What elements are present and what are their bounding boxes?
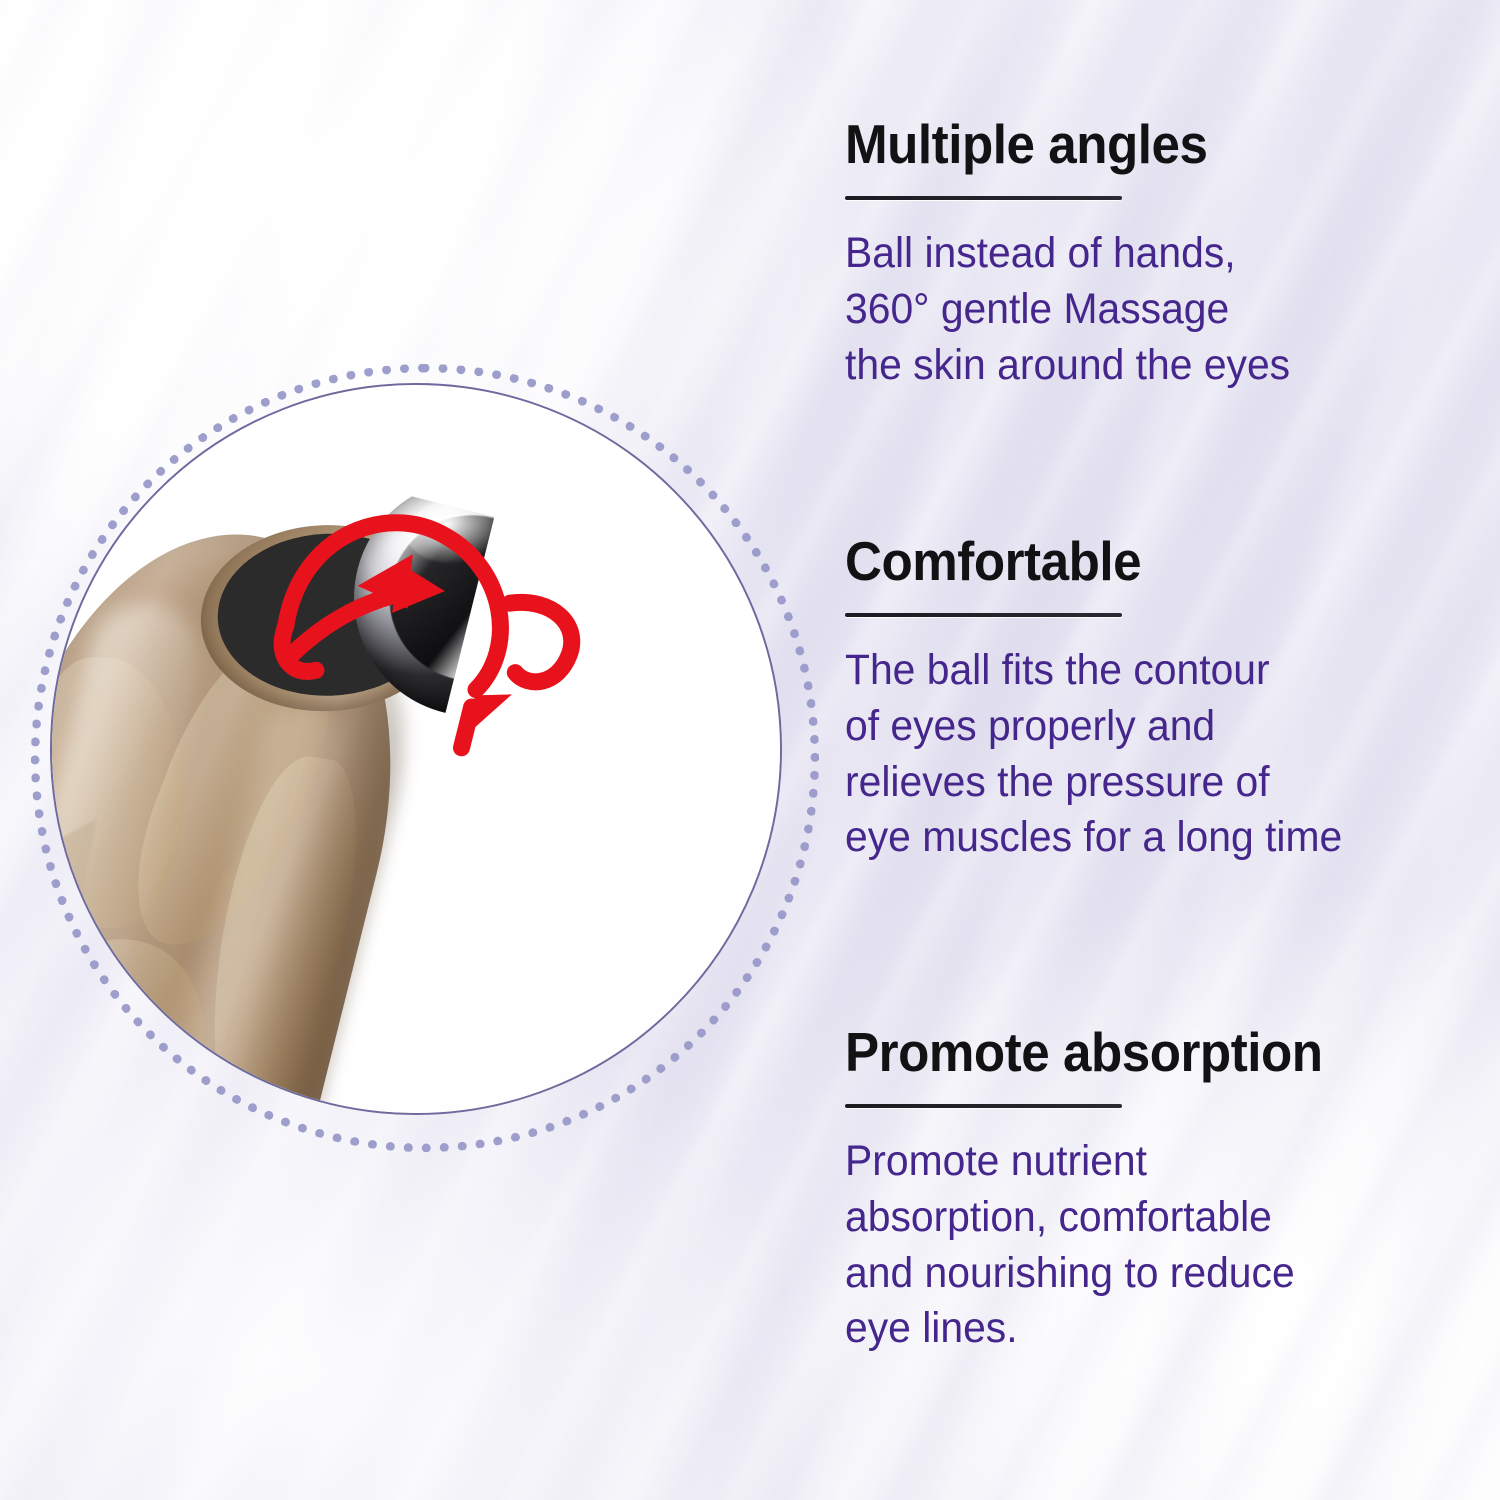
circle-frame: [50, 383, 782, 1115]
feature-block-multiple-angles: Multiple angles Ball instead of hands, 3…: [845, 116, 1455, 393]
product-closeup-circle: [50, 383, 782, 1115]
feature-divider: [845, 613, 1122, 617]
feature-block-comfortable: Comfortable The ball fits the contour of…: [845, 533, 1455, 866]
feature-title: Promote absorption: [845, 1024, 1412, 1082]
feature-divider: [845, 1104, 1122, 1108]
feature-body: Ball instead of hands, 360° gentle Massa…: [845, 226, 1425, 394]
feature-body: The ball fits the contour of eyes proper…: [845, 643, 1425, 867]
feature-title: Multiple angles: [845, 116, 1412, 174]
feature-divider: [845, 196, 1122, 200]
feature-block-promote-absorption: Promote absorption Promote nutrient abso…: [845, 1024, 1455, 1357]
feature-body: Promote nutrient absorption, comfortable…: [845, 1134, 1425, 1358]
arrowhead-down-right: [466, 686, 512, 737]
product-infographic-page: Multiple angles Ball instead of hands, 3…: [0, 0, 1500, 1500]
feature-title: Comfortable: [845, 533, 1412, 591]
